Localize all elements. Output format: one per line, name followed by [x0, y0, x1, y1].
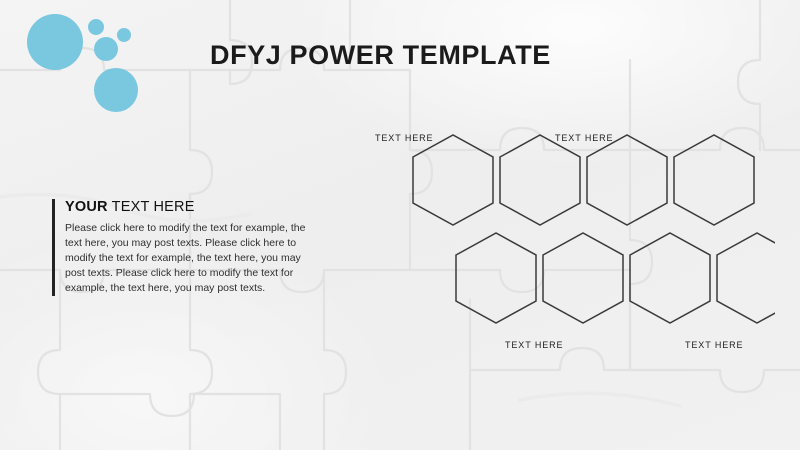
hex-label-top-left: TEXT HERE [375, 133, 433, 143]
hexagon-grid [355, 125, 775, 365]
text-block-heading: YOUR TEXT HERE [65, 199, 320, 215]
body-paragraph: Please click here to modify the text for… [65, 221, 323, 296]
text-content-block: YOUR TEXT HERE Please click here to modi… [52, 199, 320, 296]
decor-circle-bottom [94, 68, 138, 112]
hexagon-top-2[interactable] [500, 135, 580, 225]
heading-bold-part: YOUR [65, 199, 108, 215]
decor-circle-medium [94, 37, 118, 61]
presentation-slide: DFYJ POWER TEMPLATE YOUR TEXT HERE Pleas… [0, 0, 800, 450]
hexagon-top-1[interactable] [413, 135, 493, 225]
hexagon-diagram: TEXT HERE TEXT HERE TEXT HERE TEXT HERE [355, 125, 775, 365]
decor-circle-small-1 [88, 19, 104, 35]
hex-label-bottom-left: TEXT HERE [505, 340, 563, 350]
hexagon-top-4[interactable] [674, 135, 754, 225]
hexagon-bottom-4[interactable] [717, 233, 775, 323]
blue-circles-decoration [0, 0, 170, 125]
heading-regular-part: TEXT HERE [108, 199, 195, 215]
hex-label-bottom-right: TEXT HERE [685, 340, 743, 350]
hexagon-bottom-3[interactable] [630, 233, 710, 323]
decor-circle-large [27, 14, 83, 70]
decor-circle-small-2 [117, 28, 131, 42]
hexagon-top-3[interactable] [587, 135, 667, 225]
hexagon-bottom-1[interactable] [456, 233, 536, 323]
hexagon-bottom-2[interactable] [543, 233, 623, 323]
hex-label-top-right: TEXT HERE [555, 133, 613, 143]
slide-title: DFYJ POWER TEMPLATE [210, 40, 551, 71]
